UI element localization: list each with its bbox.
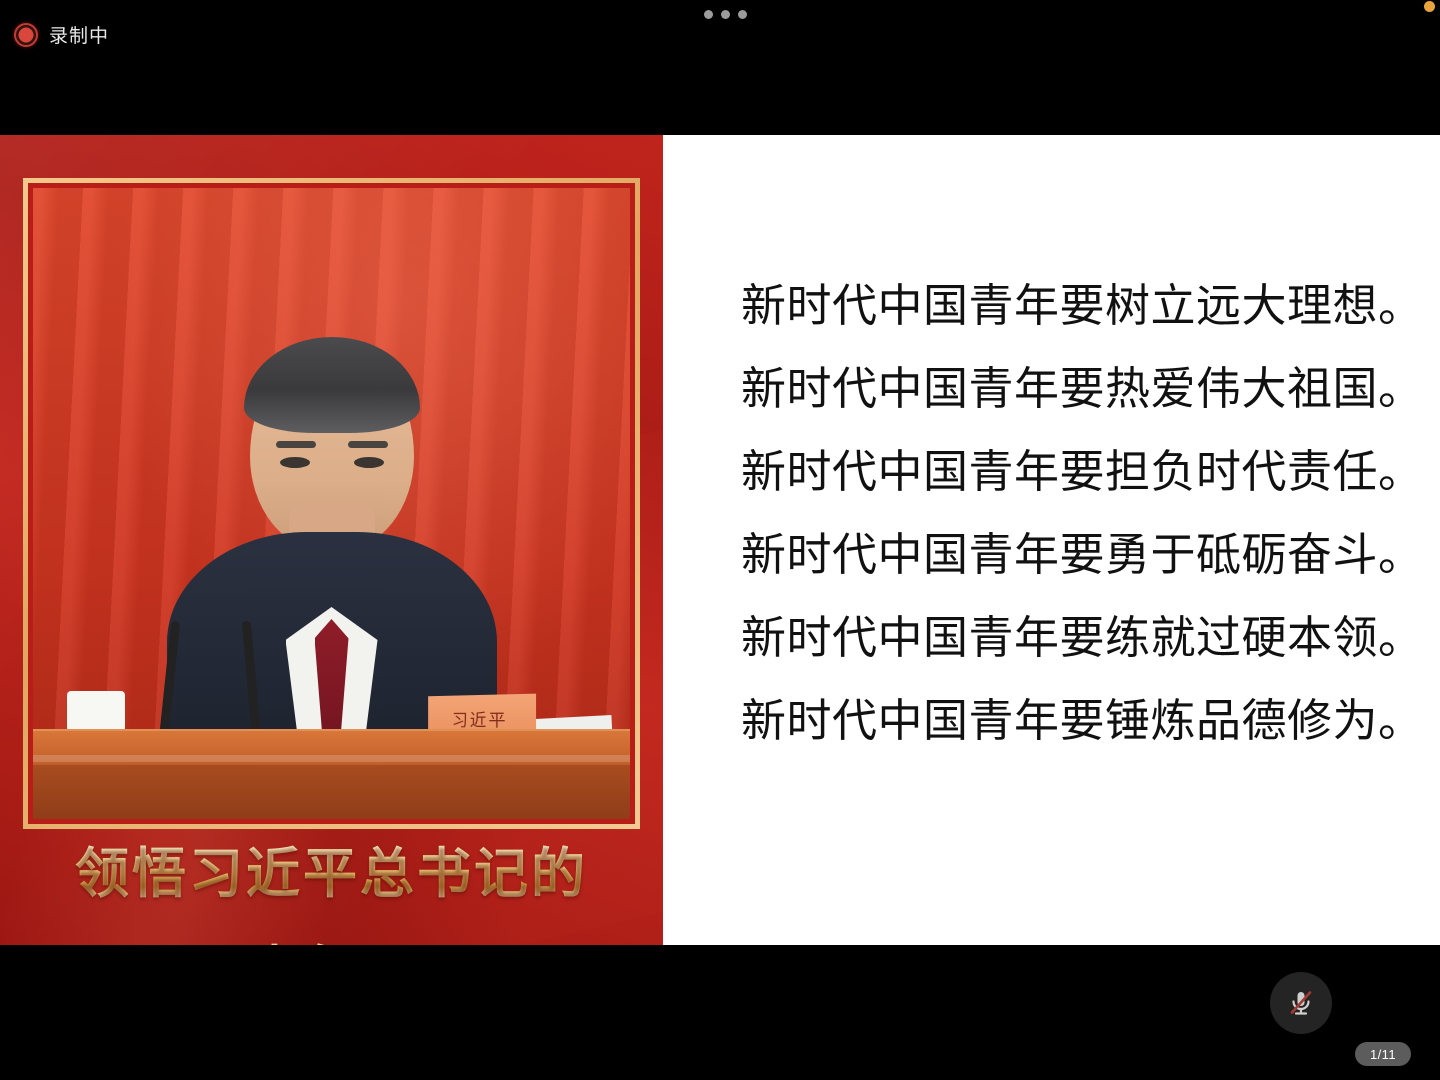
page-indicator: 1/11	[1355, 1042, 1411, 1066]
poster-panel: 习近平 领悟习近平总书记的 “青年观”	[0, 135, 663, 945]
top-bar: 录制中	[0, 0, 1440, 135]
slide-line: 新时代中国青年要练就过硬本领。	[741, 615, 1396, 660]
desk-edge	[33, 755, 630, 762]
slide-line: 新时代中国青年要树立远大理想。	[741, 283, 1396, 328]
app-root: 录制中	[0, 0, 1440, 1080]
text-slide-panel: 新时代中国青年要树立远大理想。 新时代中国青年要热爱伟大祖国。 新时代中国青年要…	[663, 135, 1440, 945]
leader-photo: 习近平	[33, 188, 630, 819]
photo-frame-inner: 习近平	[28, 183, 635, 824]
photo-person	[167, 337, 497, 757]
poster-title-line-2: “青年观”	[210, 927, 453, 945]
person-eye-right	[354, 457, 384, 468]
slide-line: 新时代中国青年要担负时代责任。	[741, 449, 1396, 494]
mute-microphone-button[interactable]	[1270, 972, 1332, 1034]
poster-title-line-2-row: “青年观”	[0, 927, 663, 945]
status-dot-icon	[1424, 1, 1435, 12]
slide-line: 新时代中国青年要勇于砥砺奋斗。	[741, 532, 1396, 577]
poster-title-block: 领悟习近平总书记的 “青年观”	[0, 843, 663, 945]
more-dot-1	[704, 10, 713, 19]
recording-label: 录制中	[49, 21, 109, 48]
person-brow-left	[276, 441, 316, 448]
recording-indicator[interactable]: 录制中	[14, 21, 109, 48]
more-dot-3	[738, 10, 747, 19]
more-dot-2	[721, 10, 730, 19]
slide-line: 新时代中国青年要热爱伟大祖国。	[741, 366, 1396, 411]
conference-desk	[33, 729, 630, 819]
slide-stage[interactable]: 习近平 领悟习近平总书记的 “青年观” 新时代中国青年要树立远大理想。	[0, 135, 1440, 945]
microphone-muted-icon	[1284, 986, 1318, 1020]
poster-title-line-1: 领悟习近平总书记的	[0, 843, 663, 905]
person-eye-left	[280, 457, 310, 468]
person-brow-right	[348, 441, 388, 448]
record-dot-icon	[14, 23, 38, 47]
photo-frame: 习近平	[23, 178, 640, 829]
person-hair	[244, 337, 420, 433]
more-options-icon[interactable]	[704, 10, 747, 19]
slide-line: 新时代中国青年要锤炼品德修为。	[741, 698, 1396, 743]
